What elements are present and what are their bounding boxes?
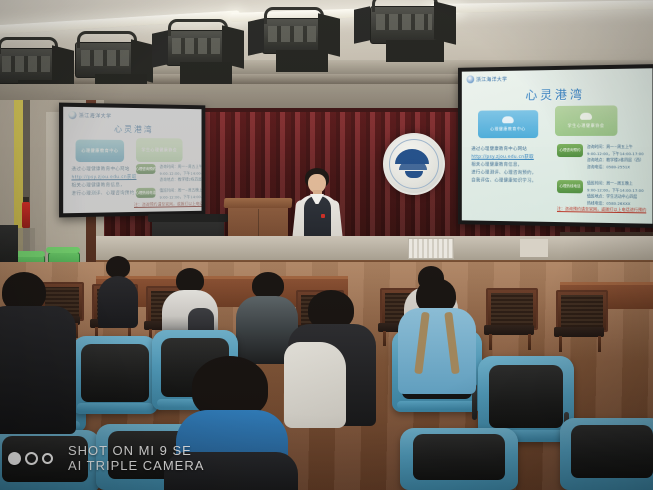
logo-mark-icon (467, 75, 475, 83)
wooden-chair (486, 288, 534, 350)
slide-block-tag: 心理咨询预约 (136, 164, 156, 174)
slide-university-name: 浙江海洋大学 (79, 112, 112, 120)
slide-block-lines: 咨询时间：周一~周五上午 9:00-12:00，下午14:00-17:00 咨询… (587, 144, 644, 171)
slide-block-line: 咨询地点：教学楼2栋四层（西） (587, 157, 644, 164)
person-torso (98, 276, 138, 328)
audience-member-foreground (0, 272, 76, 432)
watermark-line-1: SHOT ON MI 9 SE (68, 443, 204, 458)
presentation-slide: 浙江海洋大学 心灵港湾 心理健康教育中心 学生心理健康协会 通过心理健康教育中心… (462, 68, 653, 223)
card-icon (580, 113, 592, 120)
person-hair (192, 356, 268, 418)
slide-block-hotline: 心理热线电话 值班时间：周一~周五晚上 9:00-12:00，下午14:00-1… (557, 180, 644, 207)
slide-university-logo: 浙江海洋大学 (68, 111, 111, 120)
slide-note: 注：咨询预约请至官网，或拨打以上电话进行预约 (557, 206, 646, 213)
watermark-line-2: AI TRIPLE CAMERA (68, 458, 204, 473)
wall-radiator (408, 238, 454, 259)
auditorium-seat[interactable] (400, 428, 518, 490)
fire-extinguisher (22, 202, 30, 228)
auditorium-photo: 浙江海洋大学 心灵港湾 心理健康教育中心 学生心理健康协会 通过心理健康教育中心… (0, 0, 653, 490)
slide-block-lines: 咨询时间：周一~周五上午 9:00-12:00，下午14:00-17:00 咨询… (159, 164, 201, 183)
card-caption: 学生心理健康协会 (141, 147, 177, 153)
card-icon (502, 116, 514, 123)
cabinet-top (148, 214, 228, 222)
slide-bullet-list: 通过心理健康教育中心网站 http://psy.zjou.edu.cn获取 相关… (471, 146, 553, 186)
camera-lens-icon (8, 452, 21, 465)
person-hair (106, 256, 130, 278)
slide-bullet-list: 通过心理健康教育中心网站 http://psy.zjou.edu.cn获取 相关… (71, 166, 132, 199)
audience-member (98, 256, 138, 326)
card-caption: 心理健康教育中心 (490, 126, 526, 132)
auditorium-seat[interactable] (560, 418, 653, 490)
slide-card-blue: 心理健康教育中心 (76, 140, 125, 162)
camera-lens-icon (25, 452, 38, 465)
camera-lens-icon (42, 453, 53, 464)
green-bin-lid (46, 247, 80, 253)
audience-member-foreground (398, 278, 476, 388)
slide-block-line: 咨询电话：0580-2551X (587, 164, 644, 171)
card-caption: 心理健康教育中心 (81, 148, 118, 154)
ceiling-light-tube (430, 0, 653, 13)
slide-card-green: 学生心理健康协会 (555, 105, 617, 136)
slide-block-hotline: 心理热线电话 值班时间：周一~周五晚上 9:00-12:00，下午14:00-1… (136, 187, 202, 201)
camera-watermark: SHOT ON MI 9 SE AI TRIPLE CAMERA (68, 443, 204, 473)
left-projection-screen: 浙江海洋大学 心灵港湾 心理健康教育中心 学生心理健康协会 通过心理健康教育中心… (59, 103, 205, 218)
slide-title: 心灵港湾 (462, 85, 653, 104)
stage-wall-panel (520, 239, 548, 257)
slide-block-tag: 心理热线电话 (557, 180, 583, 193)
mi-triple-camera-logo (8, 452, 53, 465)
slide-block-tag: 心理咨询预约 (557, 144, 583, 157)
slide-block-line: 9:00-12:00，下午14:00-17:00 (159, 194, 201, 201)
slide-bullet: 自我评估、心理健康知识学习。 (471, 177, 553, 186)
podium-top (224, 198, 293, 208)
person-torso (0, 306, 76, 434)
person-sweater (398, 308, 476, 394)
slide-university-logo: 浙江海洋大学 (467, 75, 508, 84)
right-projection-screen: 浙江海洋大学 心灵港湾 心理健康教育中心 学生心理健康协会 通过心理健康教育中心… (458, 64, 653, 228)
auditorium-seat[interactable] (72, 336, 158, 414)
university-wave-emblem (383, 133, 445, 195)
slide-block-line: 咨询时间：周一~周五上午 (159, 164, 201, 171)
slide-bullet: 通过心理健康教育中心网站 (71, 166, 132, 174)
slide-title: 心灵港湾 (63, 123, 201, 135)
slide-block-consultation: 心理咨询预约 咨询时间：周一~周五上午 9:00-12:00，下午14:00-1… (557, 144, 644, 171)
slide-bullet: 通过心理健康教育中心网站 (471, 146, 553, 154)
logo-mark-icon (68, 111, 76, 119)
slide-card-green: 学生心理健康协会 (136, 138, 183, 162)
presentation-slide-duplicate: 浙江海洋大学 心灵港湾 心理健康教育中心 学生心理健康协会 通过心理健康教育中心… (63, 107, 201, 214)
wooden-chair (556, 290, 604, 352)
slide-bullet: 进行心理测评、心理咨询预约， (71, 190, 132, 199)
slide-card-blue: 心理健康教育中心 (478, 110, 538, 138)
audience-member-foreground (290, 290, 376, 422)
green-bin-lid (15, 251, 45, 257)
slide-block-lines: 值班时间：周一~周五晚上 9:00-12:00，下午14:00-17:00 (159, 187, 201, 200)
stage-front-wall (96, 236, 653, 262)
slide-block-line: 咨询地点：教学楼2栋四层（西） (159, 177, 201, 184)
slide-block-lines: 值班时间：周一~周五晚上 9:00-12:00，下午14:00-17:00 值班… (587, 180, 644, 207)
slide-block-tag: 心理热线电话 (136, 188, 156, 198)
presenter-badge (321, 214, 325, 218)
card-caption: 学生心理健康协会 (568, 123, 605, 129)
person-hair (252, 272, 284, 299)
slide-university-name: 浙江海洋大学 (476, 75, 507, 82)
slide-block-consultation: 心理咨询预约 咨询时间：周一~周五上午 9:00-12:00，下午14:00-1… (136, 164, 202, 184)
slide-block-line: 值班时间：周一~周五晚上 (159, 187, 201, 194)
slide-note: 注：咨询预约请至官网，或拨打以上电话进行预约 (134, 201, 202, 208)
